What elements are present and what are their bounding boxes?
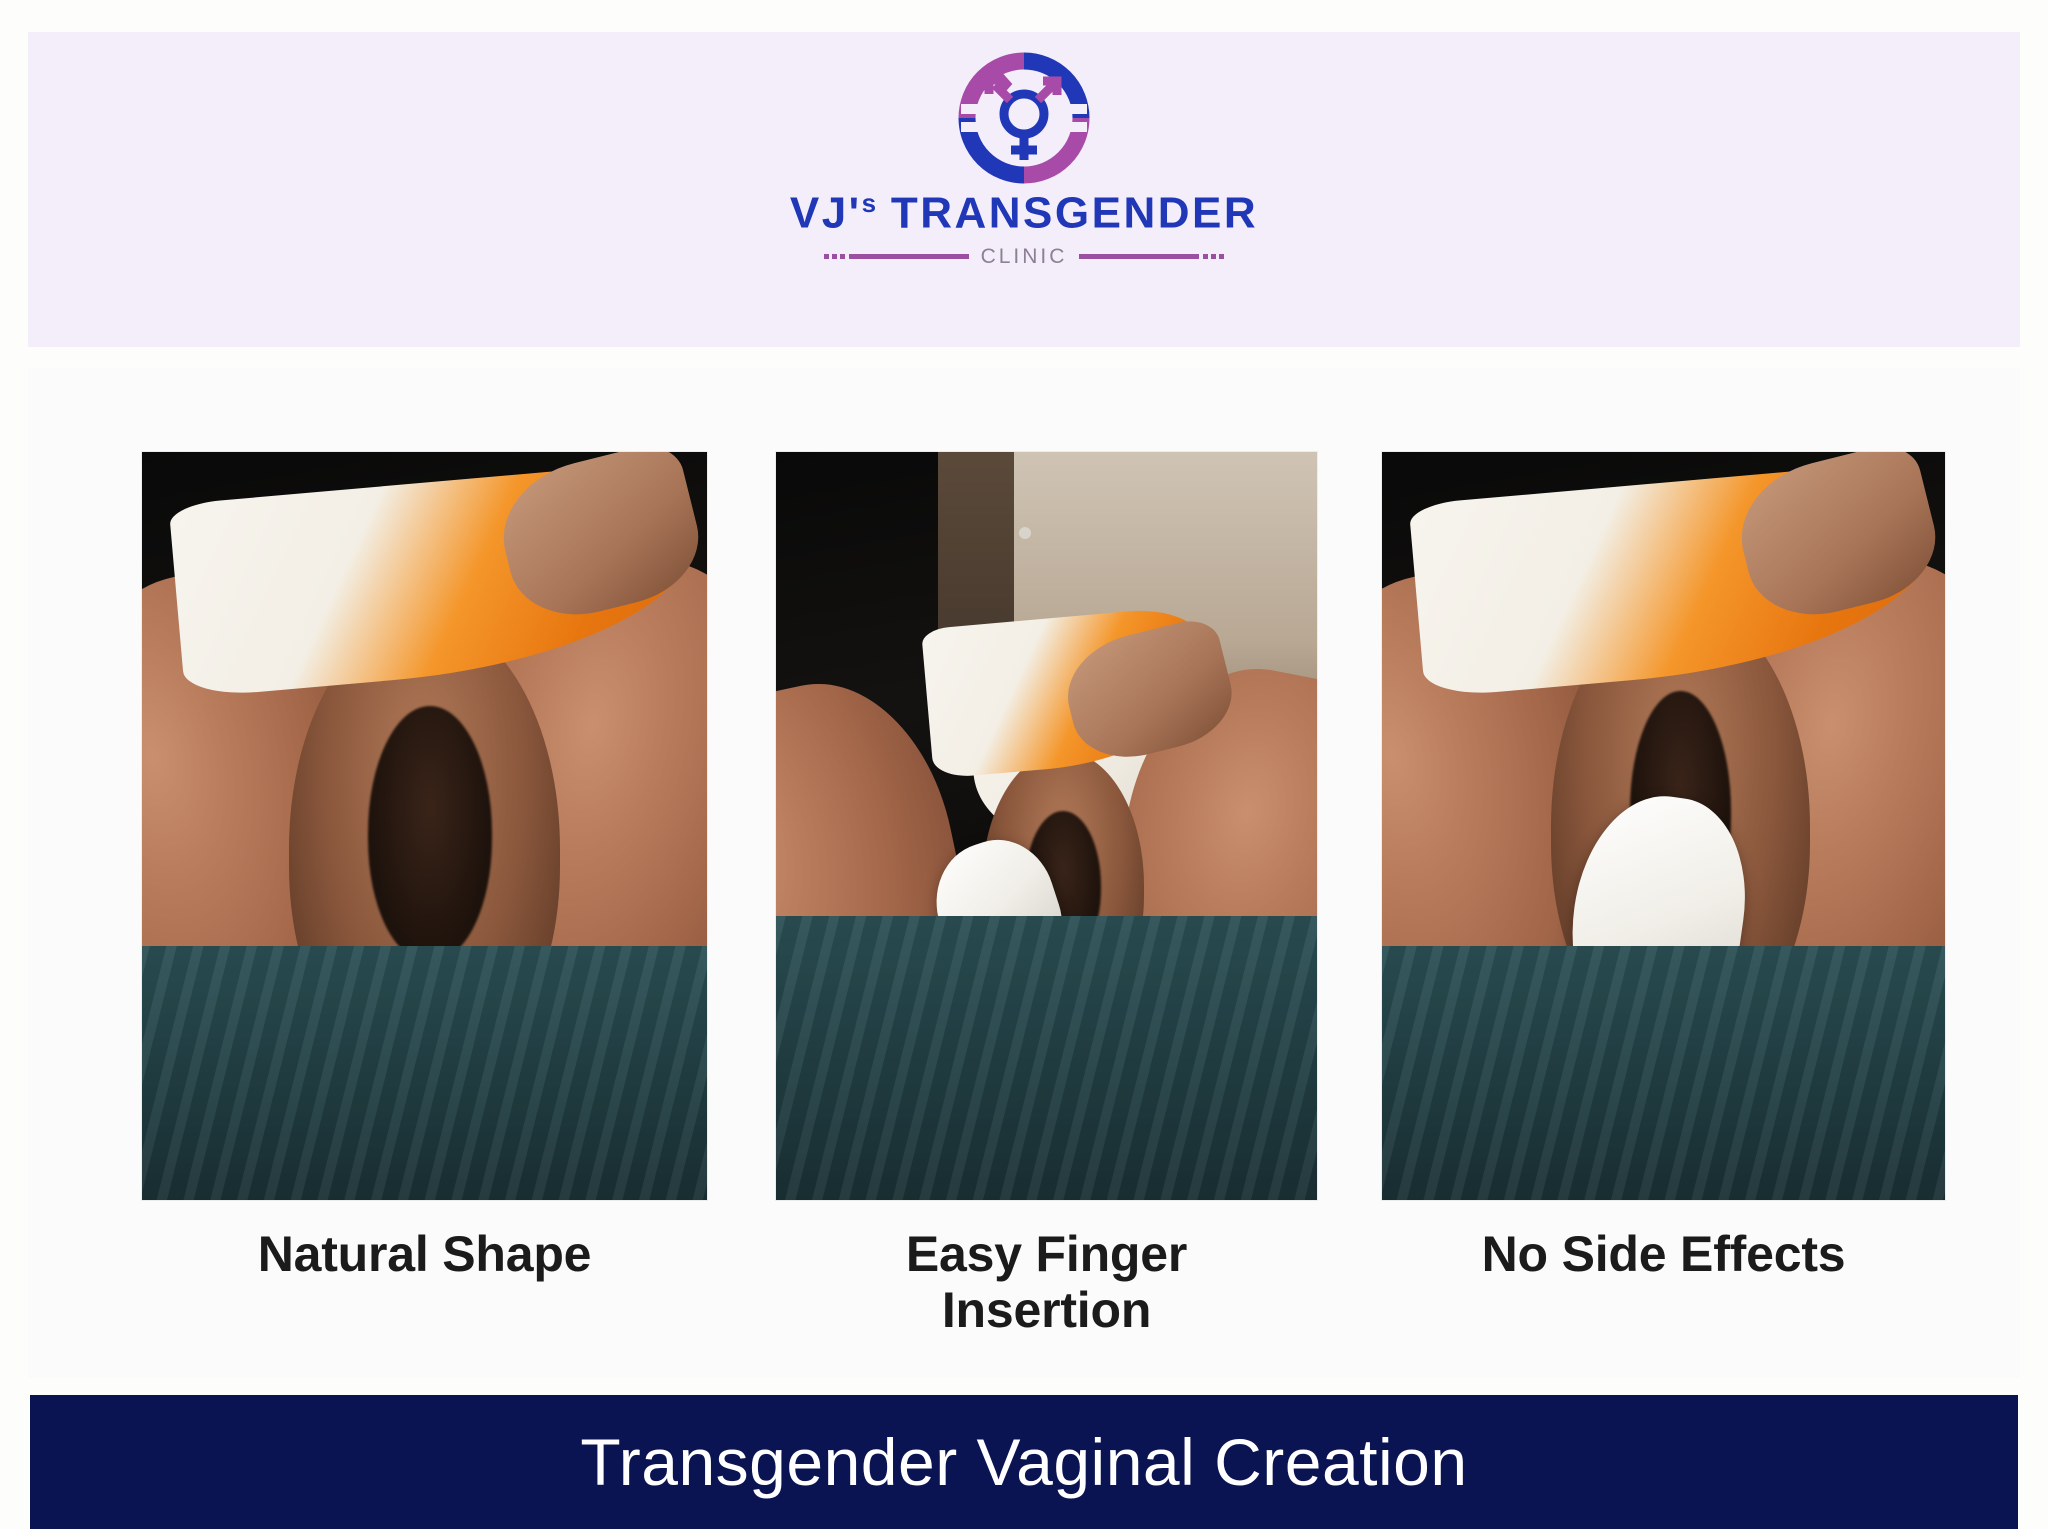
footer-banner: Transgender Vaginal Creation: [30, 1395, 2018, 1529]
clinical-photo-no-side-effects: [1382, 452, 1945, 1200]
clinic-logo: VJ's TRANSGENDER CLINIC: [790, 48, 1258, 269]
panel-easy-finger-insertion: Easy FingerInsertion: [776, 452, 1317, 1338]
panel-caption-1: Natural Shape: [142, 1226, 707, 1282]
panels-row: Natural Shape Easy FingerInsertion: [28, 368, 2020, 1378]
rule-dots-right: [1203, 254, 1224, 259]
brand-wordmark: VJ's TRANSGENDER: [790, 190, 1258, 236]
panel-caption-3: No Side Effects: [1382, 1226, 1945, 1282]
brand-name-superscript: s: [862, 188, 876, 218]
panel-caption-2-line1: Easy Finger: [906, 1226, 1187, 1282]
panel-caption-2: Easy FingerInsertion: [776, 1226, 1317, 1338]
panel-caption-2-line2: Insertion: [942, 1282, 1151, 1338]
clinical-photo-easy-finger-insertion: [776, 452, 1317, 1200]
rule-dots-left: [824, 254, 845, 259]
rule-bar-left: [849, 254, 969, 259]
clinical-photo-natural-shape: [142, 452, 707, 1200]
main-content-area: Natural Shape Easy FingerInsertion: [28, 368, 2020, 1378]
rule-bar-right: [1079, 254, 1199, 259]
brand-name-rest: TRANSGENDER: [876, 189, 1258, 238]
footer-title: Transgender Vaginal Creation: [580, 1424, 1467, 1500]
transgender-symbol-ring-icon: [949, 48, 1099, 188]
panel-natural-shape: Natural Shape: [142, 452, 707, 1282]
brand-name-main: VJ': [790, 189, 862, 238]
brand-subtitle: CLINIC: [973, 245, 1076, 269]
header-band: VJ's TRANSGENDER CLINIC: [28, 32, 2020, 347]
panel-no-side-effects: No Side Effects: [1382, 452, 1945, 1282]
brand-subtitle-row: CLINIC: [824, 245, 1224, 269]
